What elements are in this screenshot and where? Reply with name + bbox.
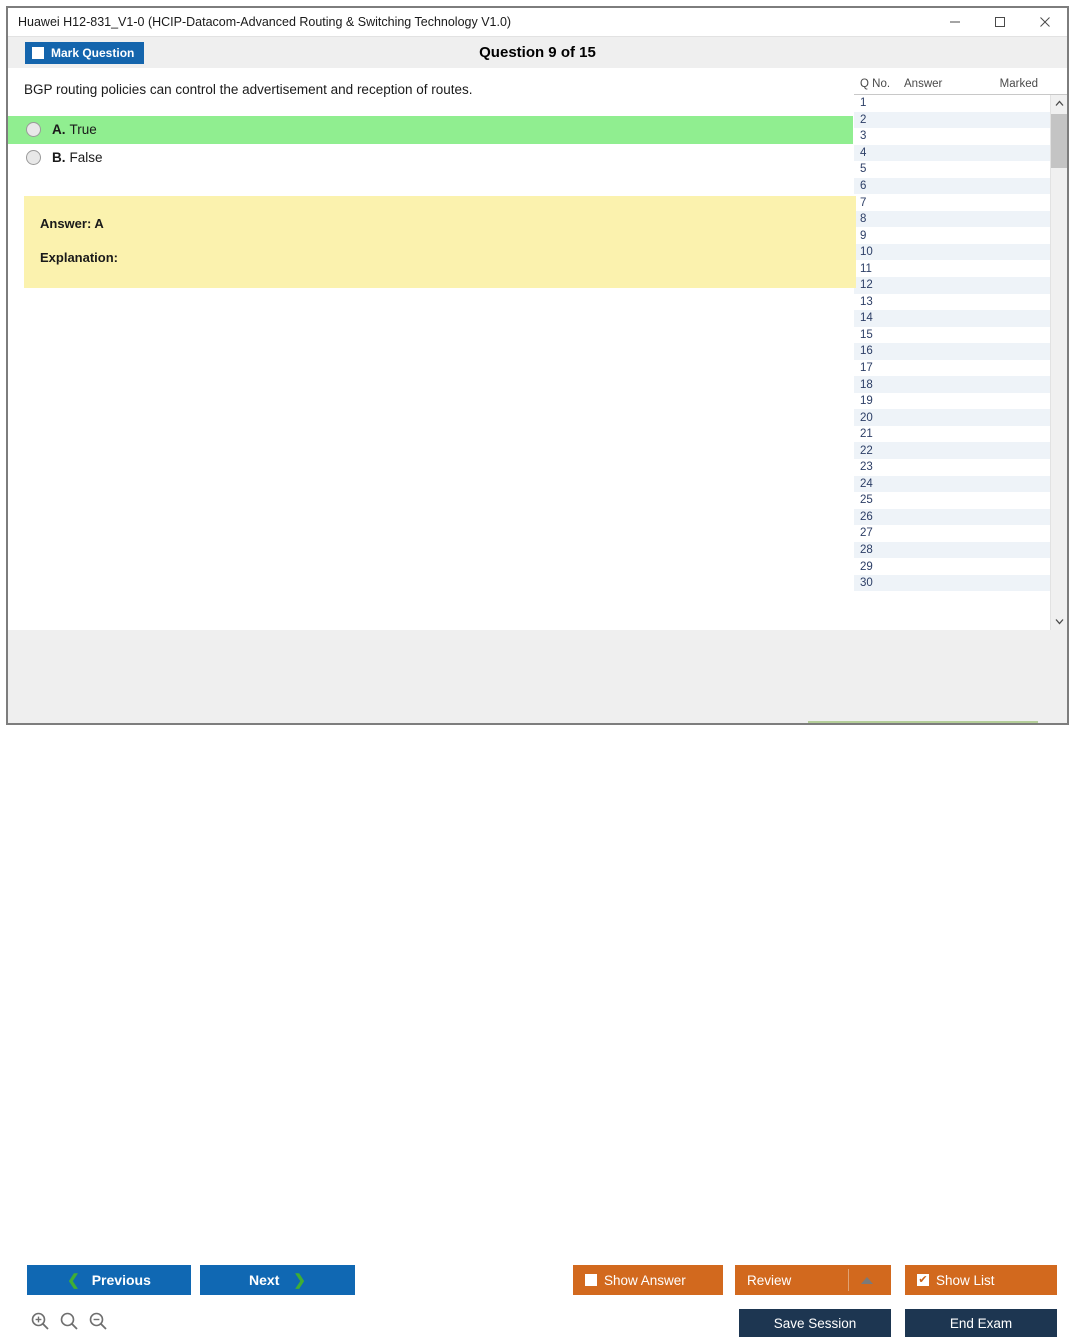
question-list-pane: Q No. Answer Marked 12345678910111213141… — [853, 68, 1067, 630]
answer-panel: Answer: A Explanation: — [24, 196, 856, 288]
question-list-qno: 18 — [860, 379, 904, 391]
bottom-accent-line — [808, 721, 1038, 723]
previous-button[interactable]: ❮ Previous — [27, 1265, 191, 1295]
question-list-qno: 29 — [860, 561, 904, 573]
question-list-header: Q No. Answer Marked — [854, 74, 1067, 95]
scroll-down-button[interactable] — [1051, 613, 1067, 630]
question-list-qno: 28 — [860, 544, 904, 556]
window-title: Huawei H12-831_V1-0 (HCIP-Datacom-Advanc… — [8, 15, 932, 29]
mark-question-button[interactable]: Mark Question — [25, 42, 144, 64]
question-list-qno: 24 — [860, 478, 904, 490]
question-list-row[interactable]: 18 — [854, 376, 1050, 393]
scroll-up-button[interactable] — [1051, 95, 1067, 112]
question-list-qno: 26 — [860, 511, 904, 523]
answer-label: Answer: A — [40, 216, 856, 231]
question-list-qno: 10 — [860, 246, 904, 258]
question-list-qno: 9 — [860, 230, 904, 242]
question-list-row[interactable]: 16 — [854, 343, 1050, 360]
mark-question-checkbox[interactable] — [32, 47, 44, 59]
question-list-row[interactable]: 19 — [854, 393, 1050, 410]
question-list-qno: 4 — [860, 147, 904, 159]
scrollbar-thumb[interactable] — [1051, 114, 1067, 168]
review-label: Review — [747, 1273, 791, 1288]
option-text-b: False — [70, 150, 103, 165]
end-exam-button[interactable]: End Exam — [905, 1309, 1057, 1337]
question-list-row[interactable]: 30 — [854, 575, 1050, 592]
review-separator — [848, 1269, 849, 1291]
minimize-button[interactable] — [932, 8, 977, 36]
previous-label: Previous — [92, 1272, 151, 1288]
show-answer-button[interactable]: Show Answer — [573, 1265, 723, 1295]
header-bar: Mark Question Question 9 of 15 — [8, 37, 1067, 68]
option-letter-a: A. — [52, 122, 66, 137]
question-list-qno: 12 — [860, 279, 904, 291]
radio-a[interactable] — [26, 122, 41, 137]
question-list-qno: 7 — [860, 197, 904, 209]
question-list-qno: 17 — [860, 362, 904, 374]
save-session-button[interactable]: Save Session — [739, 1309, 891, 1337]
question-list-row[interactable]: 23 — [854, 459, 1050, 476]
next-button[interactable]: Next ❯ — [200, 1265, 355, 1295]
show-answer-label: Show Answer — [604, 1273, 686, 1288]
question-list-row[interactable]: 8 — [854, 211, 1050, 228]
option-text-a: True — [70, 122, 97, 137]
column-header-answer: Answer — [904, 78, 978, 90]
question-list-row[interactable]: 12 — [854, 277, 1050, 294]
column-header-marked: Marked — [978, 78, 1038, 90]
chevron-left-icon: ❮ — [67, 1273, 80, 1288]
end-exam-label: End Exam — [950, 1316, 1012, 1331]
question-list-row[interactable]: 29 — [854, 558, 1050, 575]
question-list-row[interactable]: 27 — [854, 525, 1050, 542]
chevron-up-icon — [1055, 100, 1064, 107]
question-list-row[interactable]: 9 — [854, 227, 1050, 244]
question-list-qno: 22 — [860, 445, 904, 457]
question-list-scroll-wrap: 1234567891011121314151617181920212223242… — [854, 95, 1067, 630]
column-header-qno: Q No. — [860, 78, 904, 90]
chevron-right-icon: ❯ — [293, 1273, 306, 1288]
question-list-row[interactable]: 17 — [854, 360, 1050, 377]
show-list-checkbox[interactable]: ✔ — [917, 1274, 929, 1286]
minimize-icon — [949, 16, 961, 28]
question-list-qno: 25 — [860, 494, 904, 506]
question-list-row[interactable]: 5 — [854, 161, 1050, 178]
zoom-in-icon[interactable] — [30, 1311, 50, 1331]
question-list-row[interactable]: 7 — [854, 194, 1050, 211]
option-letter-b: B. — [52, 150, 66, 165]
question-list-qno: 21 — [860, 428, 904, 440]
maximize-icon — [994, 16, 1006, 28]
question-list-row[interactable]: 3 — [854, 128, 1050, 145]
review-dropdown-button[interactable]: Review — [735, 1265, 891, 1295]
zoom-reset-icon[interactable] — [59, 1311, 79, 1331]
question-list-row[interactable]: 20 — [854, 409, 1050, 426]
scrollbar-track[interactable] — [1051, 112, 1067, 613]
question-list-row[interactable]: 1 — [854, 95, 1050, 112]
close-icon — [1039, 16, 1051, 28]
show-list-label: Show List — [936, 1273, 995, 1288]
question-list-qno: 6 — [860, 180, 904, 192]
question-list-row[interactable]: 14 — [854, 310, 1050, 327]
question-list-qno: 3 — [860, 130, 904, 142]
question-list-qno: 23 — [860, 461, 904, 473]
save-session-label: Save Session — [774, 1316, 857, 1331]
question-list-scrollbar[interactable] — [1050, 95, 1067, 630]
next-label: Next — [249, 1272, 279, 1288]
question-text: BGP routing policies can control the adv… — [8, 68, 853, 100]
footer: ❮ Previous Next ❯ Show Answer Review ✔ S… — [8, 630, 1067, 723]
triangle-up-icon — [861, 1277, 873, 1284]
question-list-rows: 1234567891011121314151617181920212223242… — [854, 95, 1050, 630]
maximize-button[interactable] — [977, 8, 1022, 36]
mark-question-label: Mark Question — [51, 46, 134, 60]
question-list-row[interactable]: 6 — [854, 178, 1050, 195]
question-list-qno: 2 — [860, 114, 904, 126]
explanation-label: Explanation: — [40, 250, 856, 265]
body-area: BGP routing policies can control the adv… — [8, 68, 1067, 630]
close-button[interactable] — [1022, 8, 1067, 36]
question-list-qno: 15 — [860, 329, 904, 341]
question-list-row[interactable]: 28 — [854, 542, 1050, 559]
question-list-row[interactable]: 11 — [854, 260, 1050, 277]
question-list-qno: 1 — [860, 97, 904, 109]
option-row-a[interactable]: A. True — [8, 116, 853, 144]
show-answer-checkbox[interactable] — [585, 1274, 597, 1286]
question-list-row[interactable]: 4 — [854, 145, 1050, 162]
zoom-out-icon[interactable] — [88, 1311, 108, 1331]
question-list-row[interactable]: 13 — [854, 294, 1050, 311]
question-list-qno: 11 — [860, 263, 904, 275]
show-list-button[interactable]: ✔ Show List — [905, 1265, 1057, 1295]
zoom-controls — [30, 1311, 108, 1331]
title-bar: Huawei H12-831_V1-0 (HCIP-Datacom-Advanc… — [8, 8, 1067, 37]
question-list-qno: 16 — [860, 345, 904, 357]
option-row-b[interactable]: B. False — [8, 144, 853, 172]
question-list-qno: 27 — [860, 527, 904, 539]
question-list-row[interactable]: 25 — [854, 492, 1050, 509]
question-counter: Question 9 of 15 — [8, 44, 1067, 61]
question-list-row[interactable]: 26 — [854, 509, 1050, 526]
exam-window: Huawei H12-831_V1-0 (HCIP-Datacom-Advanc… — [6, 6, 1069, 725]
question-list-qno: 13 — [860, 296, 904, 308]
question-list-row[interactable]: 24 — [854, 476, 1050, 493]
options-list: A. True B. False — [8, 116, 853, 172]
question-list-qno: 14 — [860, 312, 904, 324]
radio-b[interactable] — [26, 150, 41, 165]
question-list-qno: 19 — [860, 395, 904, 407]
question-list-row[interactable]: 2 — [854, 112, 1050, 129]
question-list-qno: 30 — [860, 577, 904, 589]
chevron-down-icon — [1055, 618, 1064, 625]
question-pane: BGP routing policies can control the adv… — [8, 68, 853, 630]
question-list-qno: 8 — [860, 213, 904, 225]
question-list-row[interactable]: 10 — [854, 244, 1050, 261]
question-list-row[interactable]: 21 — [854, 426, 1050, 443]
question-list-qno: 5 — [860, 163, 904, 175]
question-list-row[interactable]: 22 — [854, 442, 1050, 459]
question-list-row[interactable]: 15 — [854, 327, 1050, 344]
question-list-qno: 20 — [860, 412, 904, 424]
